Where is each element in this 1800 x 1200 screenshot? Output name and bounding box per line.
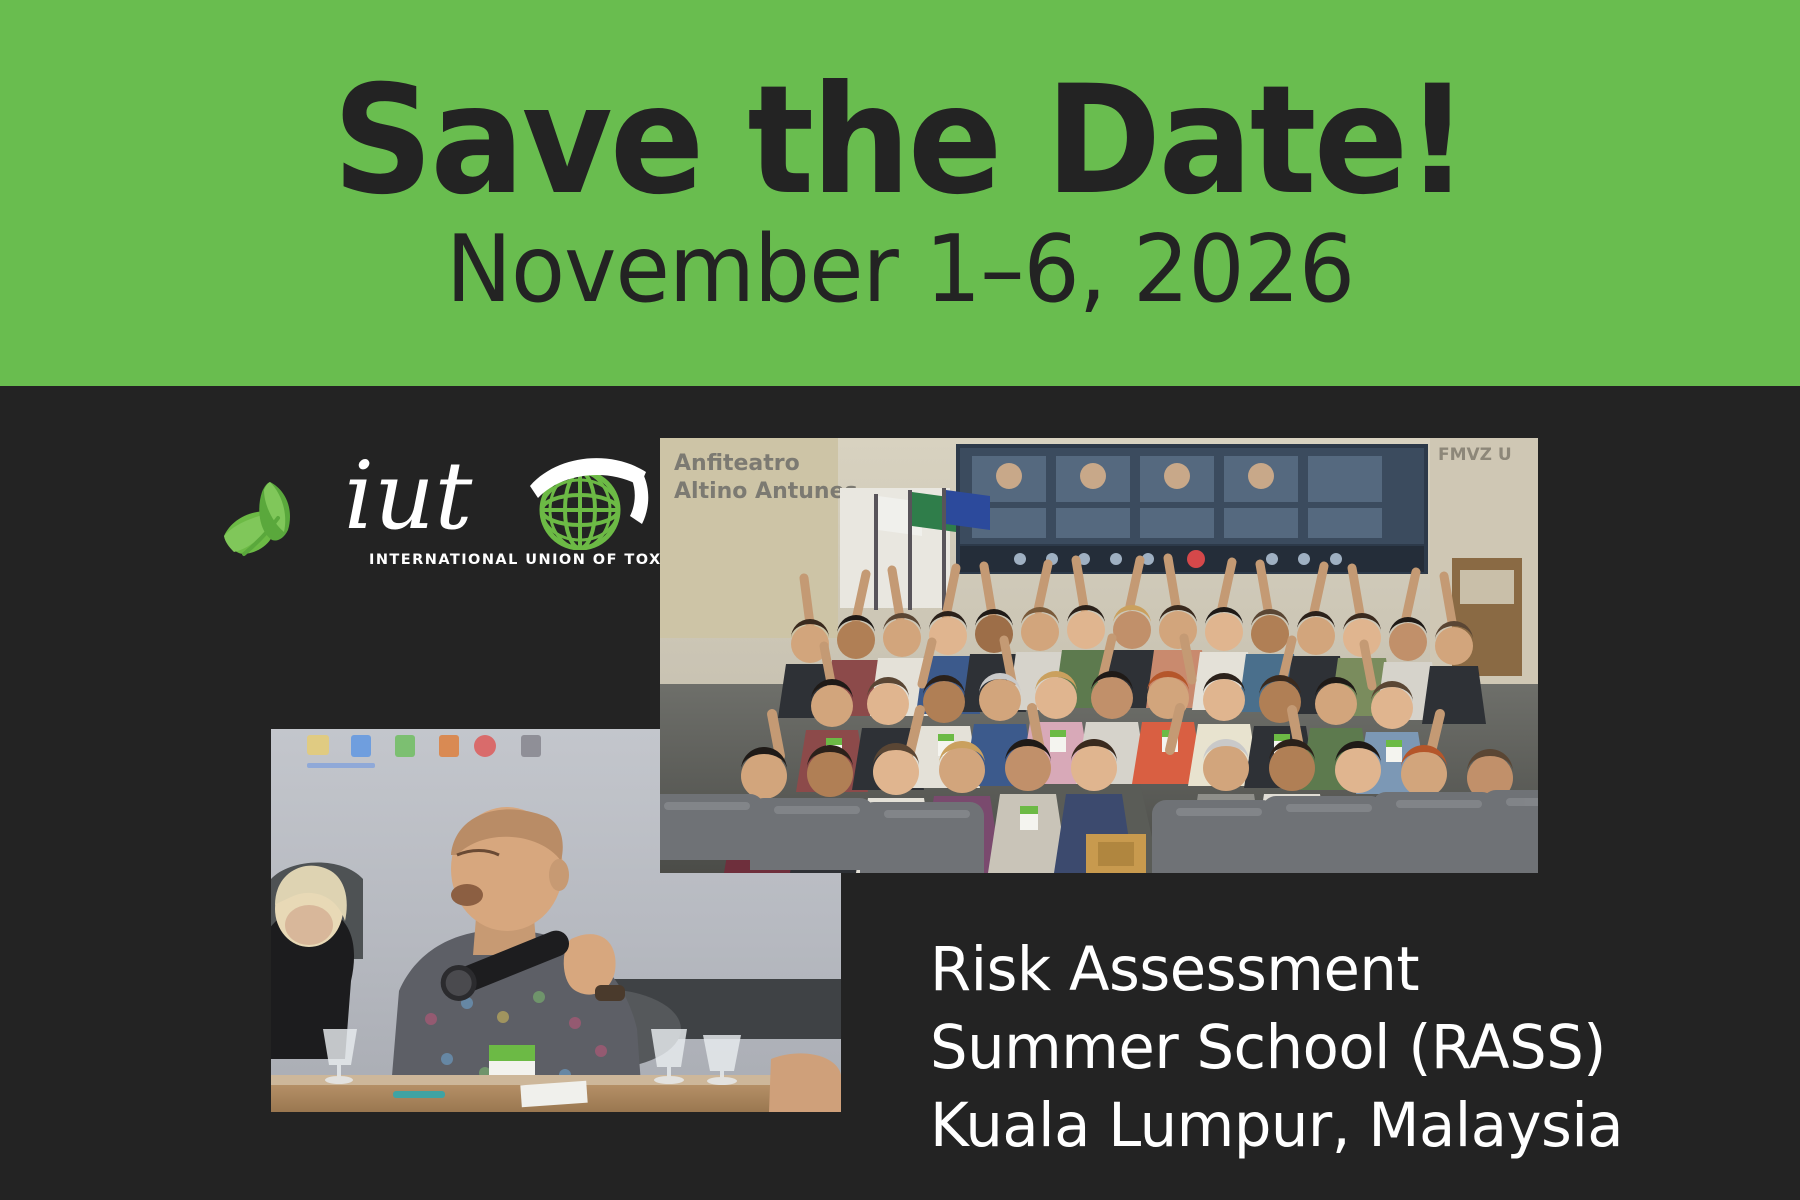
svg-text:iut: iut bbox=[344, 446, 473, 550]
event-caption-box: Risk Assessment Summer School (RASS) Kua… bbox=[870, 873, 1800, 1200]
banner-subtitle-date: November 1–6, 2026 bbox=[446, 221, 1354, 319]
iutox-wordmark: iut bbox=[344, 446, 654, 550]
caption-line-program: Summer School (RASS) bbox=[930, 1009, 1774, 1087]
svg-text:Altino Antunes: Altino Antunes bbox=[674, 479, 858, 504]
svg-text:FMVZ U: FMVZ U bbox=[1438, 445, 1512, 465]
caption-line-location: Kuala Lumpur, Malaysia bbox=[930, 1087, 1774, 1165]
poster-body: iut INTER bbox=[0, 386, 1800, 1200]
banner-title: Save the Date! bbox=[333, 68, 1467, 215]
iutox-logo: iut INTER bbox=[222, 446, 652, 586]
header-banner: Save the Date! November 1–6, 2026 bbox=[0, 0, 1800, 386]
save-the-date-poster: Save the Date! November 1–6, 2026 bbox=[0, 0, 1800, 1200]
svg-text:Anfiteatro: Anfiteatro bbox=[674, 451, 800, 476]
leaf-icon bbox=[222, 474, 322, 564]
group-photo: Anfiteatro Altino Antunes bbox=[660, 438, 1538, 873]
caption-line-title: Risk Assessment bbox=[930, 931, 1774, 1009]
